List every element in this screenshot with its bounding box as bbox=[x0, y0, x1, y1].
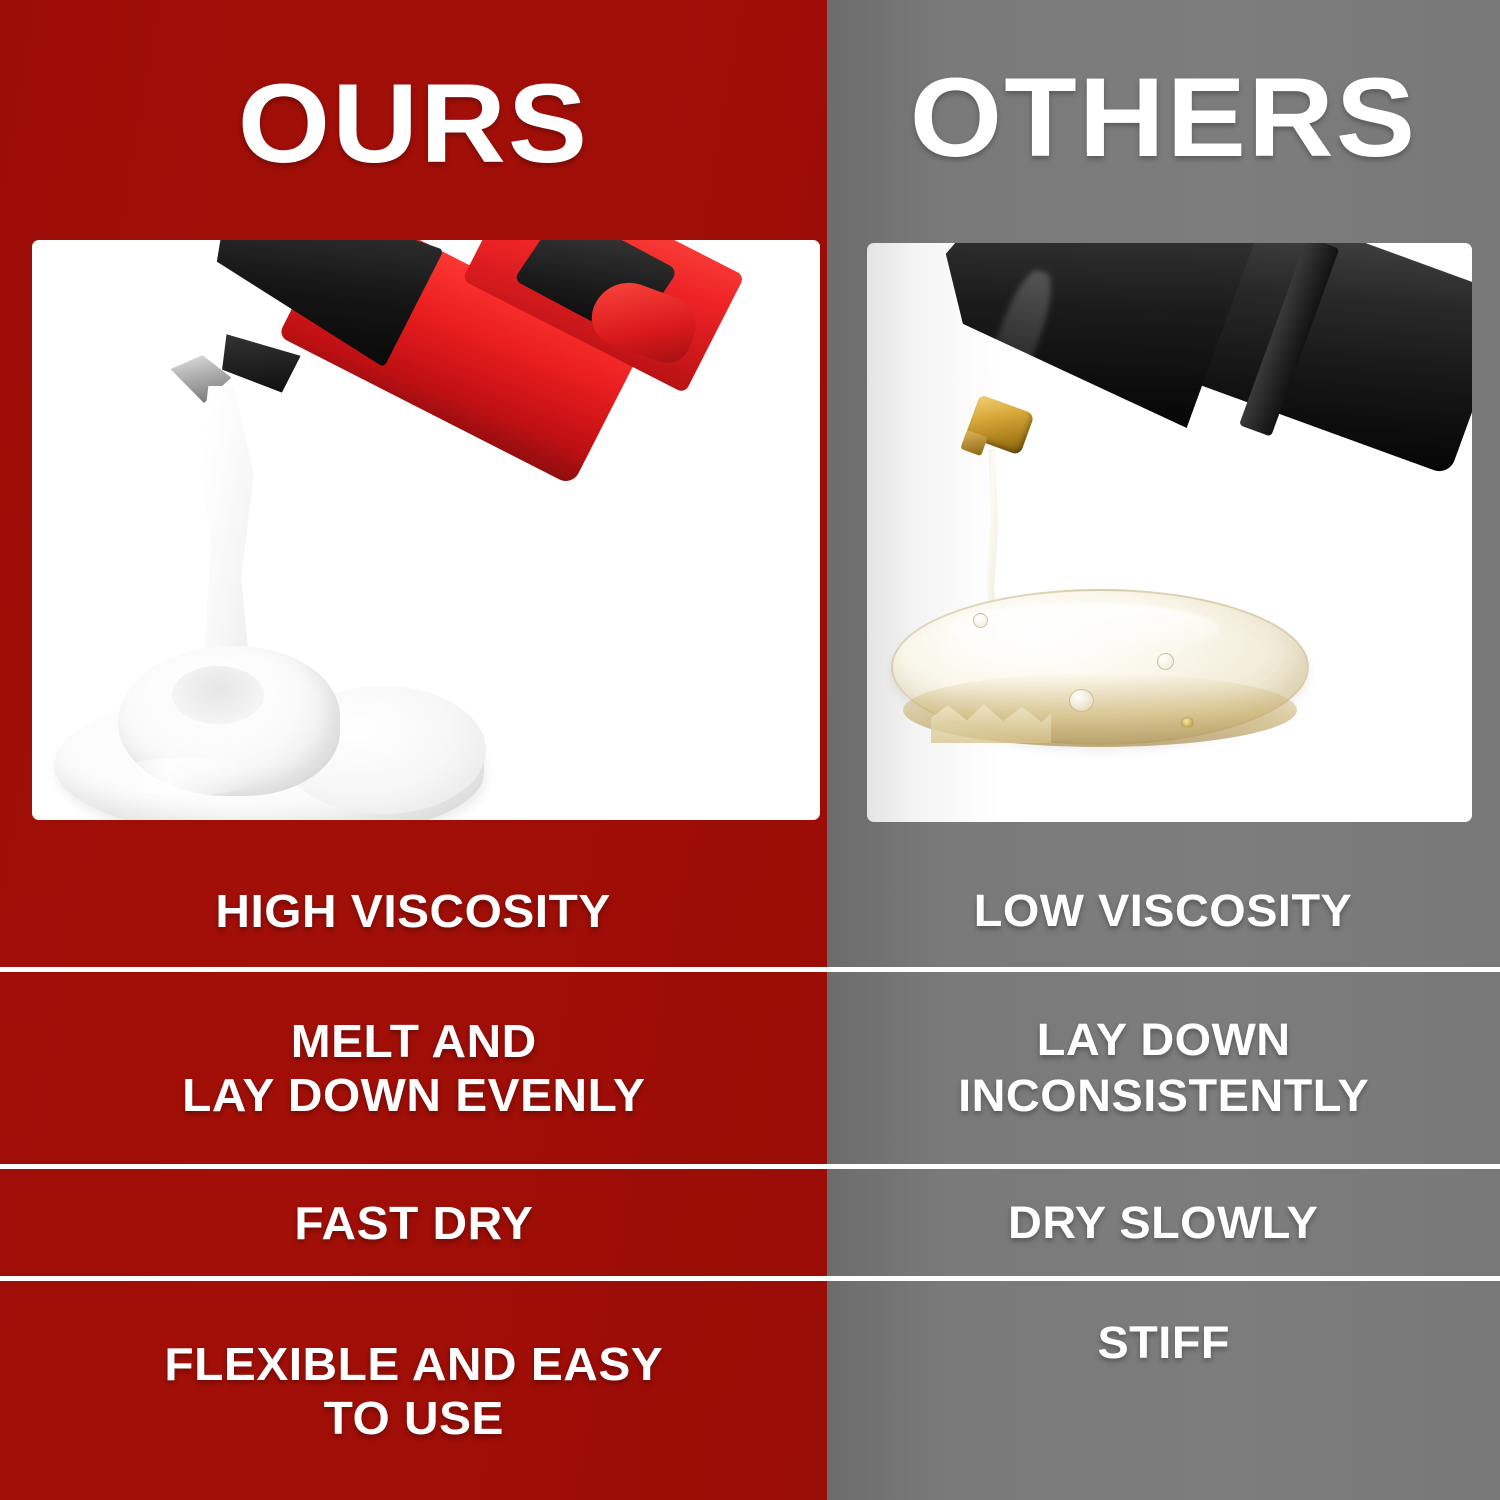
others-feature-rows: LOW VISCOSITY LAY DOWN INCONSISTENTLY DR… bbox=[827, 0, 1500, 1500]
ours-feature-label-3: FAST DRY bbox=[267, 1196, 560, 1250]
ours-feature-row-2: MELT AND LAY DOWN EVENLY bbox=[0, 972, 827, 1164]
ours-divider-3 bbox=[0, 1276, 827, 1281]
others-column: OTHERS LOW VISCOSITY bbox=[827, 0, 1500, 1500]
ours-feature-row-4: FLEXIBLE AND EASY TO USE bbox=[0, 1282, 827, 1500]
ours-feature-label-1: HIGH VISCOSITY bbox=[189, 884, 638, 938]
ours-divider-2 bbox=[0, 1164, 827, 1169]
others-feature-row-4: STIFF bbox=[827, 1282, 1500, 1500]
ours-feature-rows: HIGH VISCOSITY MELT AND LAY DOWN EVENLY … bbox=[0, 0, 827, 1500]
others-divider-3 bbox=[827, 1276, 1500, 1281]
others-feature-row-2: LAY DOWN INCONSISTENTLY bbox=[827, 972, 1500, 1164]
others-feature-row-3: DRY SLOWLY bbox=[827, 1170, 1500, 1276]
ours-feature-label-4: FLEXIBLE AND EASY TO USE bbox=[137, 1337, 690, 1445]
others-feature-label-4: STIFF bbox=[1070, 1316, 1257, 1370]
others-feature-label-3: DRY SLOWLY bbox=[981, 1196, 1345, 1250]
ours-feature-row-1: HIGH VISCOSITY bbox=[0, 855, 827, 967]
others-feature-row-1: LOW VISCOSITY bbox=[827, 855, 1500, 967]
others-feature-label-2: LAY DOWN INCONSISTENTLY bbox=[931, 1012, 1396, 1124]
comparison-infographic: OURS HIGH VISCOSITY MEL bbox=[0, 0, 1500, 1500]
others-feature-label-1: LOW VISCOSITY bbox=[947, 884, 1380, 938]
ours-column: OURS HIGH VISCOSITY MEL bbox=[0, 0, 827, 1500]
ours-feature-label-2: MELT AND LAY DOWN EVENLY bbox=[155, 1014, 672, 1122]
ours-feature-row-3: FAST DRY bbox=[0, 1170, 827, 1276]
others-divider-2 bbox=[827, 1164, 1500, 1169]
